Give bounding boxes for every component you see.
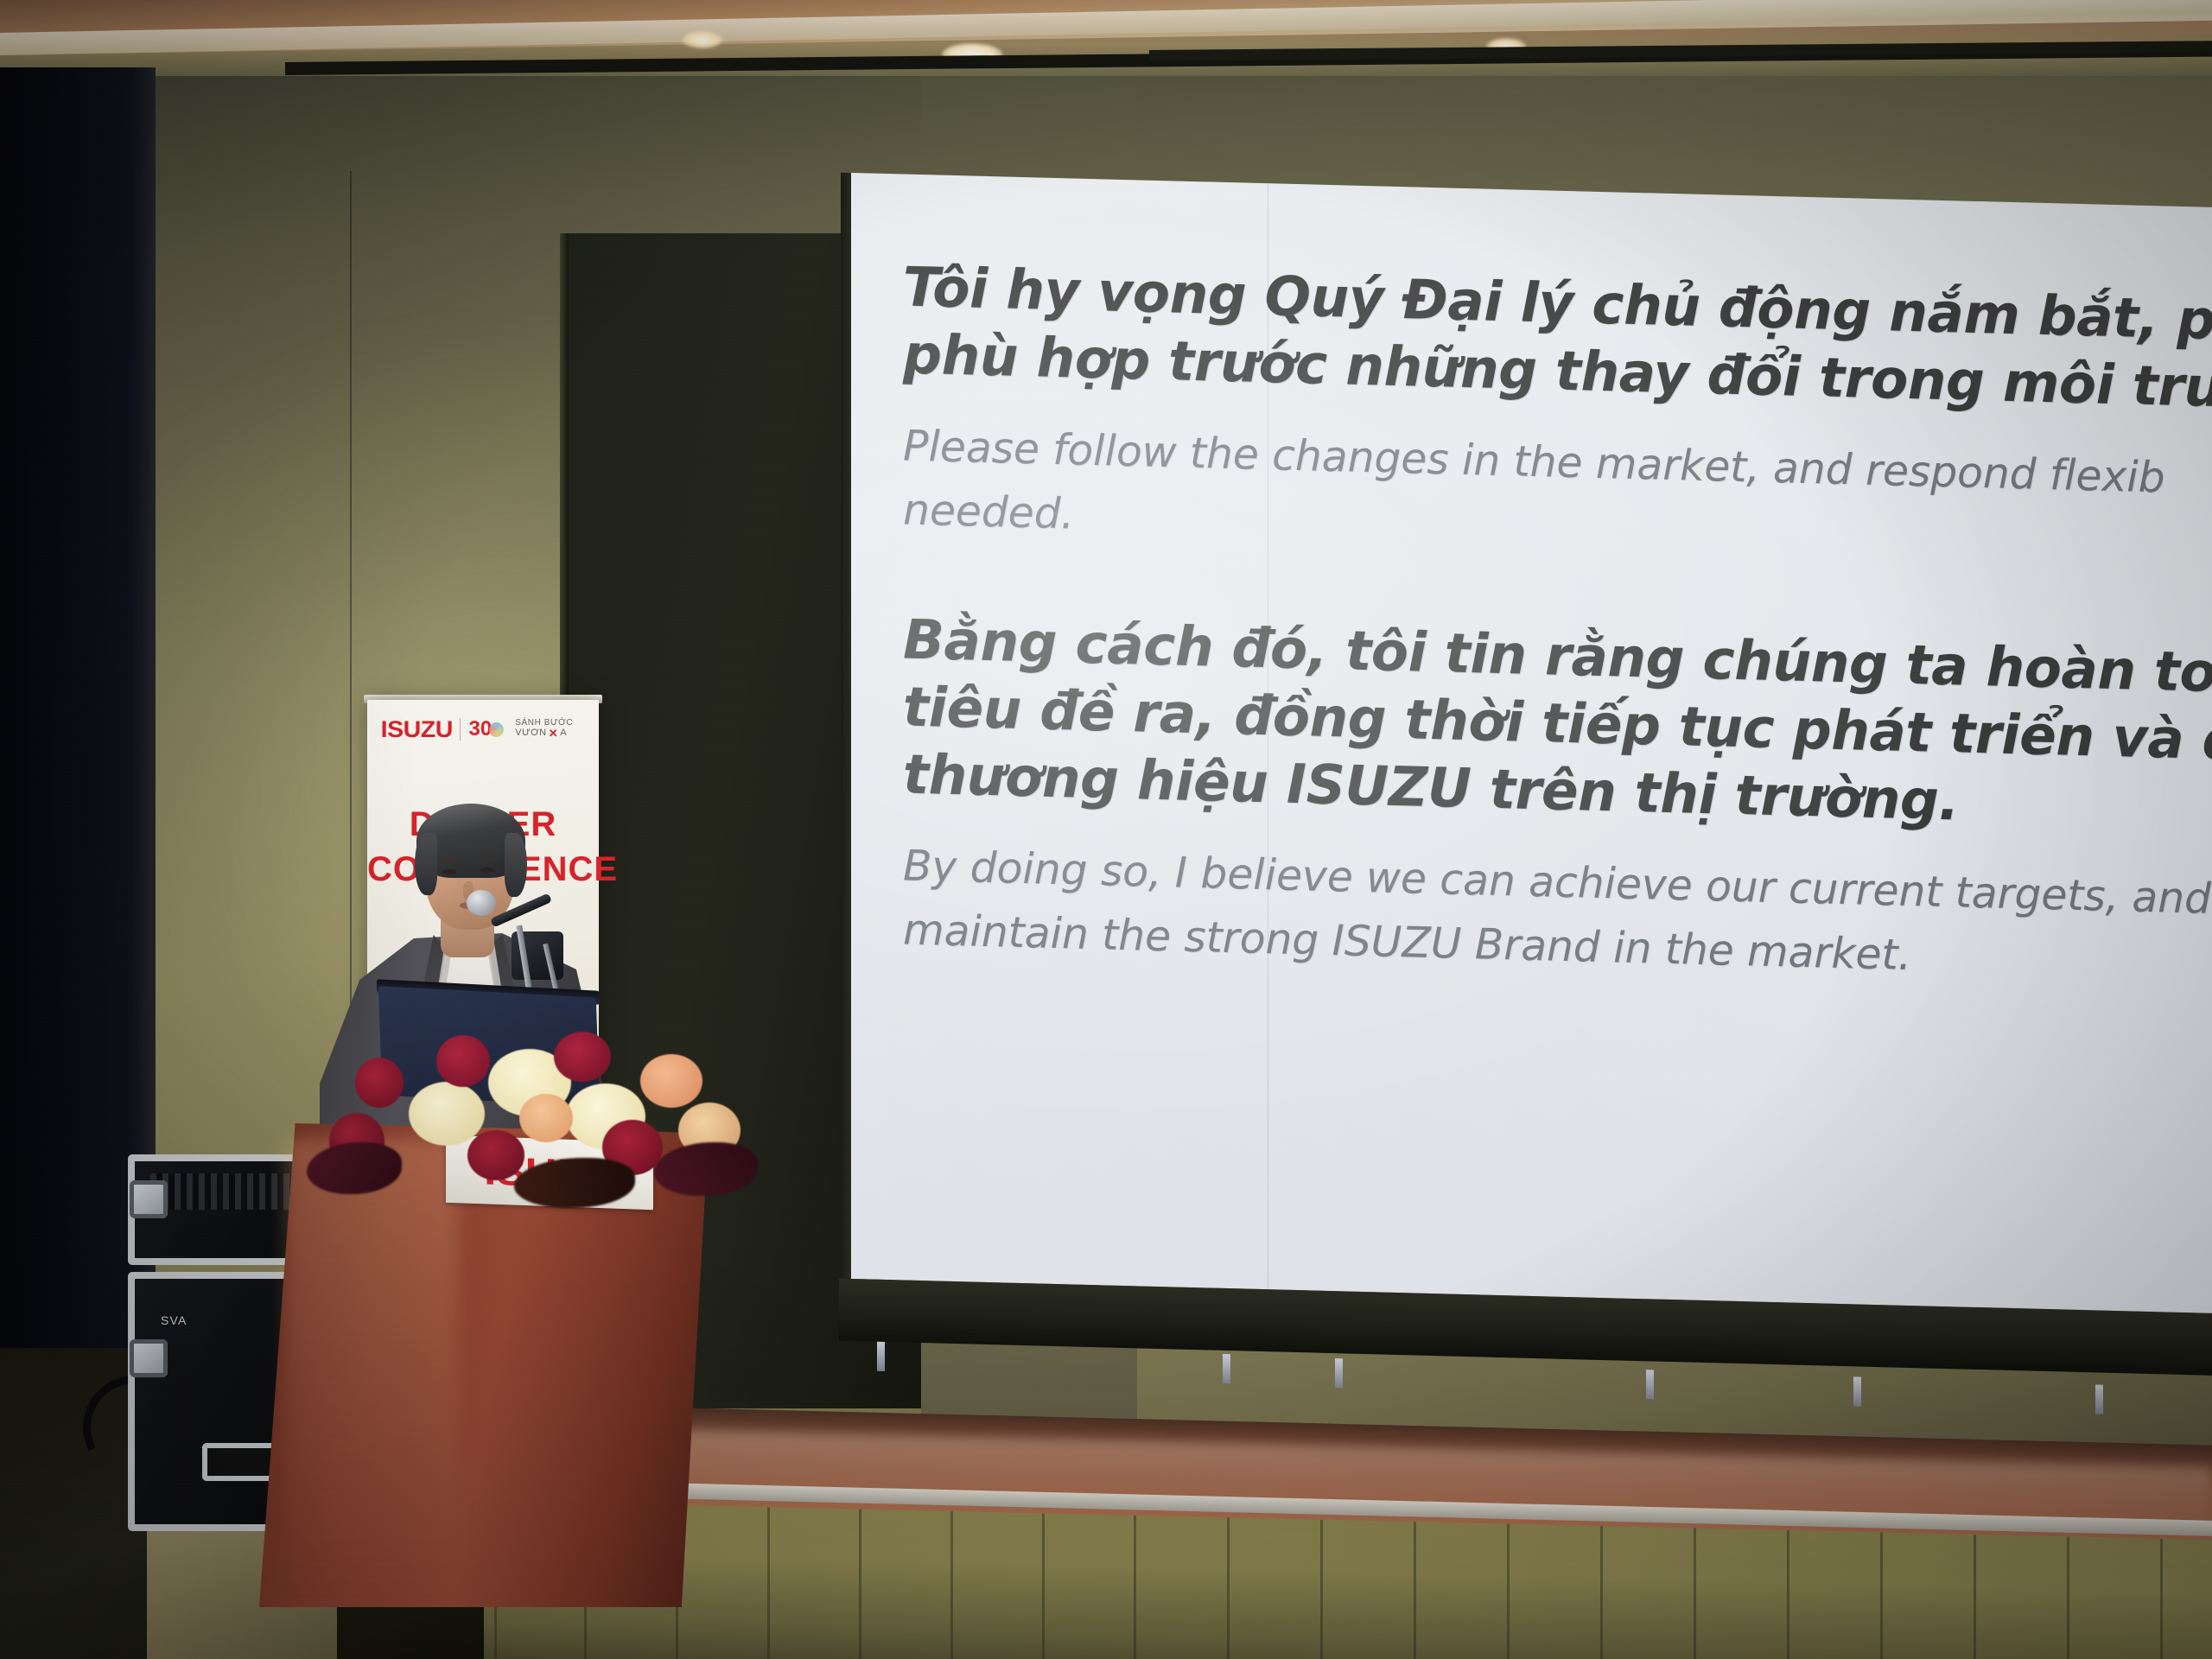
anniversary-mark: 30 (469, 717, 505, 741)
screen-foot (1223, 1354, 1230, 1383)
standee-tagline: SÁNH BƯỚC VƯƠN ✕ A (515, 719, 573, 740)
eye-left (442, 869, 456, 874)
hair-side-right (505, 833, 527, 897)
case-label: SVA (161, 1313, 188, 1327)
conference-stage-photo: Tôi hy vọng Quý Đại lý chủ động nắm bắt,… (0, 0, 2212, 1659)
screen-foot (1335, 1358, 1343, 1388)
tagline-word-a: A (560, 728, 567, 739)
flower-crimson (467, 1130, 524, 1180)
flower-peach (519, 1094, 573, 1142)
screen-foot (877, 1342, 885, 1371)
tagline-line1: SÁNH BƯỚC (515, 719, 573, 728)
foliage (654, 1142, 758, 1196)
case-latch (130, 1180, 168, 1218)
foliage (307, 1142, 402, 1194)
screen-foot (1646, 1370, 1654, 1399)
eye-right (480, 868, 494, 873)
case-latch (130, 1339, 168, 1377)
projection-screen: Tôi hy vọng Quý Đại lý chủ động nắm bắt,… (851, 173, 2212, 1413)
screen-surface: Tôi hy vọng Quý Đại lý chủ động nắm bắt,… (851, 173, 2212, 1313)
cross-icon: ✕ (549, 728, 559, 740)
swirl-icon (489, 722, 504, 737)
flower-crimson (355, 1058, 404, 1108)
flower-peach (640, 1054, 702, 1108)
slide-content: Tôi hy vọng Quý Đại lý chủ động nắm bắt,… (903, 254, 2212, 1000)
isuzu-wordmark: ISUZU (381, 716, 453, 743)
hair-side-left (415, 833, 437, 895)
flower-arrangement (307, 1020, 756, 1210)
tagline-word-vuon: VƯƠN (515, 728, 547, 739)
downlight-icon (683, 31, 722, 48)
flower-cream (409, 1082, 485, 1146)
logo-divider (460, 718, 461, 741)
flower-crimson (554, 1032, 611, 1082)
eyebrow-right (478, 856, 497, 861)
microphone-icon (467, 890, 496, 916)
screen-foot (2095, 1384, 2103, 1414)
tagline-line2: VƯƠN ✕ A (515, 728, 573, 740)
standee-logo-lockup: ISUZU 30 SÁNH BƯỚC VƯƠN ✕ A (383, 714, 583, 745)
anniversary-number: 30 (469, 717, 493, 741)
screen-foot (1853, 1376, 1861, 1406)
foliage (514, 1158, 635, 1208)
flower-crimson (436, 1035, 490, 1087)
